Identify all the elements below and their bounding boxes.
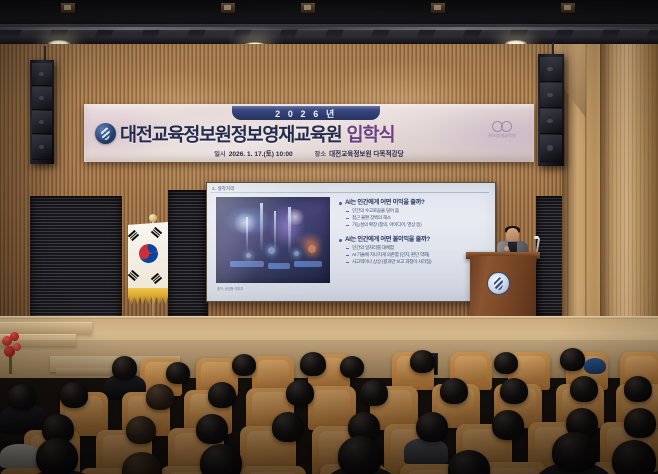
attendee-head (360, 380, 388, 406)
attendee-head (570, 376, 598, 402)
attendee-head (492, 410, 524, 440)
auditorium-seat (240, 466, 306, 474)
attendee-head (166, 362, 190, 384)
pillar-grain (600, 44, 658, 344)
truss-brace (202, 29, 236, 39)
ceiling-light-fixture (560, 2, 576, 14)
attendee-head (500, 378, 528, 404)
speaker-cabinet (32, 87, 52, 110)
truss-brace (248, 29, 282, 39)
speaker-cabinet (540, 83, 562, 108)
ceiling-light-fixture (300, 2, 316, 14)
truss-brace (294, 29, 328, 39)
attendee-head (416, 412, 448, 442)
ceremony-banner: 2 0 2 6 년 대전교육정보원정보영재교육원 입학식 정보영재교육원 일시 … (84, 104, 534, 162)
speaker-cabinet (540, 57, 562, 82)
presenter-hand (504, 246, 509, 251)
truss-brace (64, 29, 98, 39)
attendee-head (552, 432, 598, 472)
projection-screen: 3. 생각거리 출처: 생성형 이미지 AI는 인간에게 어떤 이익을 줄까? (206, 182, 496, 302)
screen-glare (207, 183, 495, 301)
attendee-head (196, 414, 228, 444)
speaker-cabinet (32, 111, 52, 134)
flag-finial (149, 214, 157, 222)
attendee-head (232, 354, 256, 376)
attendee-head (286, 380, 314, 406)
attendee-head (36, 438, 78, 474)
wall-grille-center-left (168, 190, 208, 316)
truss-brace (570, 29, 604, 39)
attendee-head (410, 350, 435, 373)
banner-edge (84, 104, 534, 162)
stage-step-lip (0, 322, 92, 324)
attendee-head (338, 436, 382, 474)
speaker-cabinet (32, 135, 52, 160)
ceiling-light-fixture (60, 2, 76, 14)
truss-highlight (0, 27, 658, 30)
truss-brace (340, 29, 374, 39)
attendee-head (8, 384, 36, 410)
attendee-head (126, 416, 156, 444)
truss-brace (110, 29, 144, 39)
truss-brace (524, 29, 558, 39)
truss-brace (386, 29, 420, 39)
speaker-cabinet (540, 135, 562, 162)
attendee-head (612, 440, 656, 474)
attendee-head (146, 384, 174, 410)
attendee-head (624, 376, 652, 402)
line-array-speaker-right (538, 54, 564, 166)
attendee-head (340, 356, 364, 378)
attendee-head (440, 378, 468, 404)
speaker-cabinet (32, 63, 52, 86)
line-array-speaker-left (30, 60, 54, 164)
attendee-shoulders (0, 444, 40, 468)
attendee-head (300, 352, 326, 376)
microphone-head-icon (534, 236, 539, 239)
attendee-blue-cap (584, 358, 606, 374)
attendee-head (494, 352, 518, 374)
attendee-head (208, 382, 236, 408)
attendee-head (560, 348, 585, 371)
truss-brace (478, 29, 512, 39)
truss-brace (156, 29, 190, 39)
attendee-head (200, 444, 242, 474)
truss-brace (18, 29, 52, 39)
stage-front-edge (0, 316, 658, 319)
ceiling-light-fixture (430, 2, 446, 14)
truss-brace (432, 29, 466, 39)
ceiling-light-fixture (220, 2, 236, 14)
audience-area (0, 340, 658, 474)
attendee-head (624, 408, 656, 438)
truss-brace (616, 29, 650, 39)
attendee-head (112, 356, 137, 380)
wall-grille-left (30, 196, 122, 322)
auditorium-photo: 2 0 2 6 년 대전교육정보원정보영재교육원 입학식 정보영재교육원 일시 … (0, 0, 658, 474)
attendee-head (272, 412, 304, 442)
institute-emblem (487, 272, 510, 295)
attendee-shoulders (404, 438, 448, 464)
speaker-cabinet (540, 109, 562, 134)
attendee-head (60, 382, 88, 408)
